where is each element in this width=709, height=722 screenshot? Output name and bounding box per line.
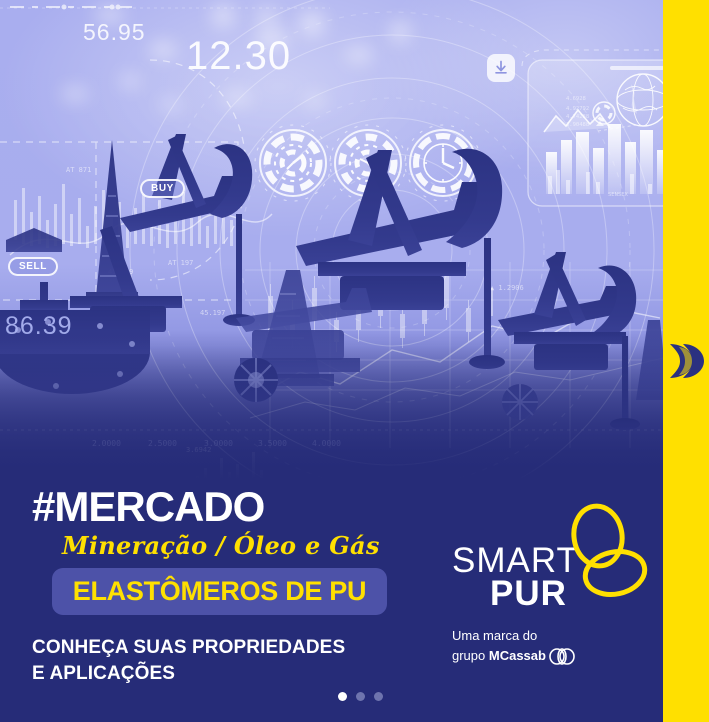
sell-badge: SELL xyxy=(8,257,58,276)
ticker-value-1: 56.95 xyxy=(83,19,146,46)
description-line-1: CONHEÇA SUAS PROPRIEDADES xyxy=(32,635,345,661)
hero-bottom-fade xyxy=(0,330,663,480)
brand-tagline: Uma marca do grupo MCassab xyxy=(452,626,575,670)
description-line-2: E APLICAÇÕES xyxy=(32,661,345,687)
pagination-dots xyxy=(338,692,383,701)
brand-tagline-line-1: Uma marca do xyxy=(452,626,575,646)
svg-text:4.74288: 4.74288 xyxy=(566,114,589,120)
next-slide-button[interactable] xyxy=(663,337,709,385)
svg-text:4.6928: 4.6928 xyxy=(566,96,586,102)
pagination-dot-1[interactable] xyxy=(338,692,347,701)
download-icon[interactable] xyxy=(487,54,515,82)
brand-logo: SMART PUR xyxy=(452,545,652,610)
page-title: #MERCADO xyxy=(32,486,264,528)
pagination-dot-2[interactable] xyxy=(356,692,365,701)
hero-background-image: AT 871 45.949 AT 197 45.197 3.6942 15.90… xyxy=(0,0,663,480)
description-text: CONHEÇA SUAS PROPRIEDADES E APLICAÇÕES xyxy=(32,635,345,686)
svg-text:SENSEX: SENSEX xyxy=(608,192,629,198)
pagination-dot-3[interactable] xyxy=(374,692,383,701)
mcassab-loops-icon xyxy=(549,648,575,671)
topic-pill-label: ELASTÔMEROS DE PU xyxy=(73,576,366,607)
svg-text:AT 871: AT 871 xyxy=(66,166,91,174)
ticker-value-2: 12.30 xyxy=(186,34,291,79)
double-chevron-right-icon xyxy=(666,340,706,382)
download-arrow-glyph xyxy=(492,59,510,77)
topic-pill-button[interactable]: ELASTÔMEROS DE PU xyxy=(52,568,387,615)
svg-text:AT 197: AT 197 xyxy=(168,259,193,267)
brand-group-name: MCassab xyxy=(489,648,546,663)
smartpur-loops-icon xyxy=(562,503,648,599)
buy-badge: BUY xyxy=(140,179,185,198)
svg-text:▲ 1.2906: ▲ 1.2906 xyxy=(490,284,524,292)
segment-subtitle: Mineração / Óleo e Gás xyxy=(62,531,380,560)
slide-canvas: AT 871 45.949 AT 197 45.197 3.6942 15.90… xyxy=(0,0,709,722)
svg-text:4.92792: 4.92792 xyxy=(566,106,589,112)
brand-tagline-prefix: grupo xyxy=(452,648,489,663)
svg-text:45.197: 45.197 xyxy=(200,309,225,317)
brand-tagline-line-2: grupo MCassab xyxy=(452,646,575,671)
svg-text:3.90488: 3.90488 xyxy=(566,122,589,128)
